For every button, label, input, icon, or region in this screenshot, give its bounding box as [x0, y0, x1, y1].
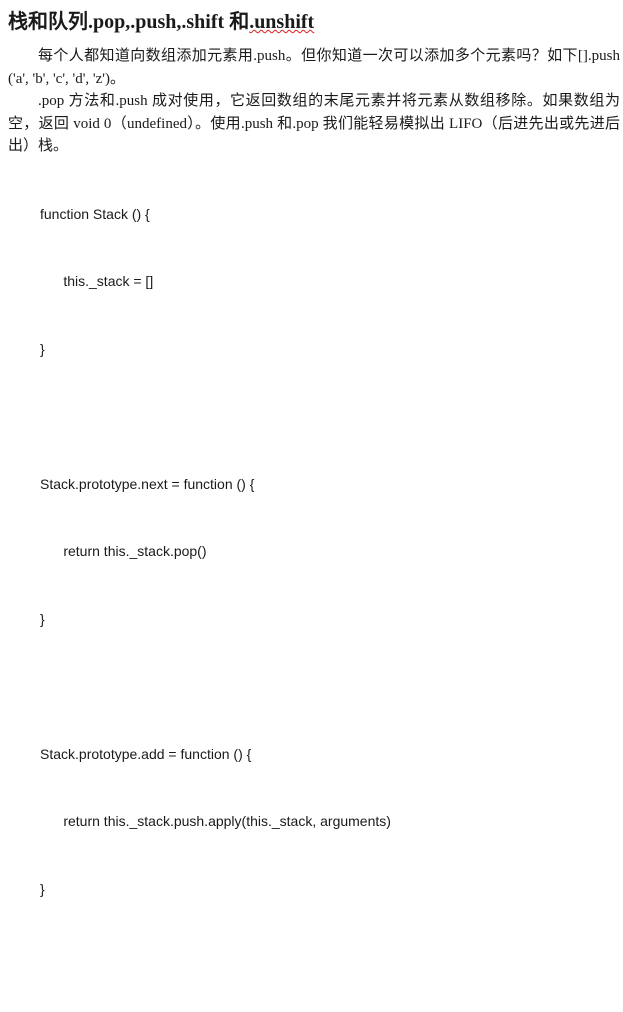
code-line: Stack.prototype.next = function () {: [40, 473, 623, 496]
code-line: function Stack () {: [40, 203, 623, 226]
body-text: 每个人都知道向数组添加元素用.push。但你知道一次可以添加多个元素吗？如下[]…: [0, 45, 623, 158]
paragraph-pop-explanation: .pop 方法和.push 成对使用，它返回数组的末尾元素并将元素从数组移除。如…: [8, 90, 620, 158]
code-line-blank: [40, 405, 623, 428]
code-line: }: [40, 338, 623, 361]
code-line: }: [40, 608, 623, 631]
code-line: }: [40, 878, 623, 901]
code-line-blank: [40, 675, 623, 698]
code-line: this._stack = []: [40, 270, 623, 293]
paragraph-intro: 每个人都知道向数组添加元素用.push。但你知道一次可以添加多个元素吗？如下[]…: [8, 45, 620, 90]
code-line: return this._stack.push.apply(this._stac…: [40, 810, 623, 833]
page-title-cjk-prefix: 栈和队列: [8, 11, 88, 33]
page-title-misspelled-word: .unshift: [249, 11, 314, 33]
document-page: 栈和队列.pop,.push,.shift 和.unshift 每个人都知道向数…: [0, 0, 623, 506]
page-title-cjk-conjunction: 和: [229, 11, 249, 33]
code-block: function Stack () { this._stack = [] } S…: [0, 158, 623, 1012]
page-title: 栈和队列.pop,.push,.shift 和.unshift: [0, 0, 623, 35]
code-line-blank: [40, 945, 623, 968]
page-title-methods: .pop,.push,.shift: [88, 11, 229, 33]
code-line: Stack.prototype.add = function () {: [40, 743, 623, 766]
code-line: return this._stack.pop(): [40, 540, 623, 563]
